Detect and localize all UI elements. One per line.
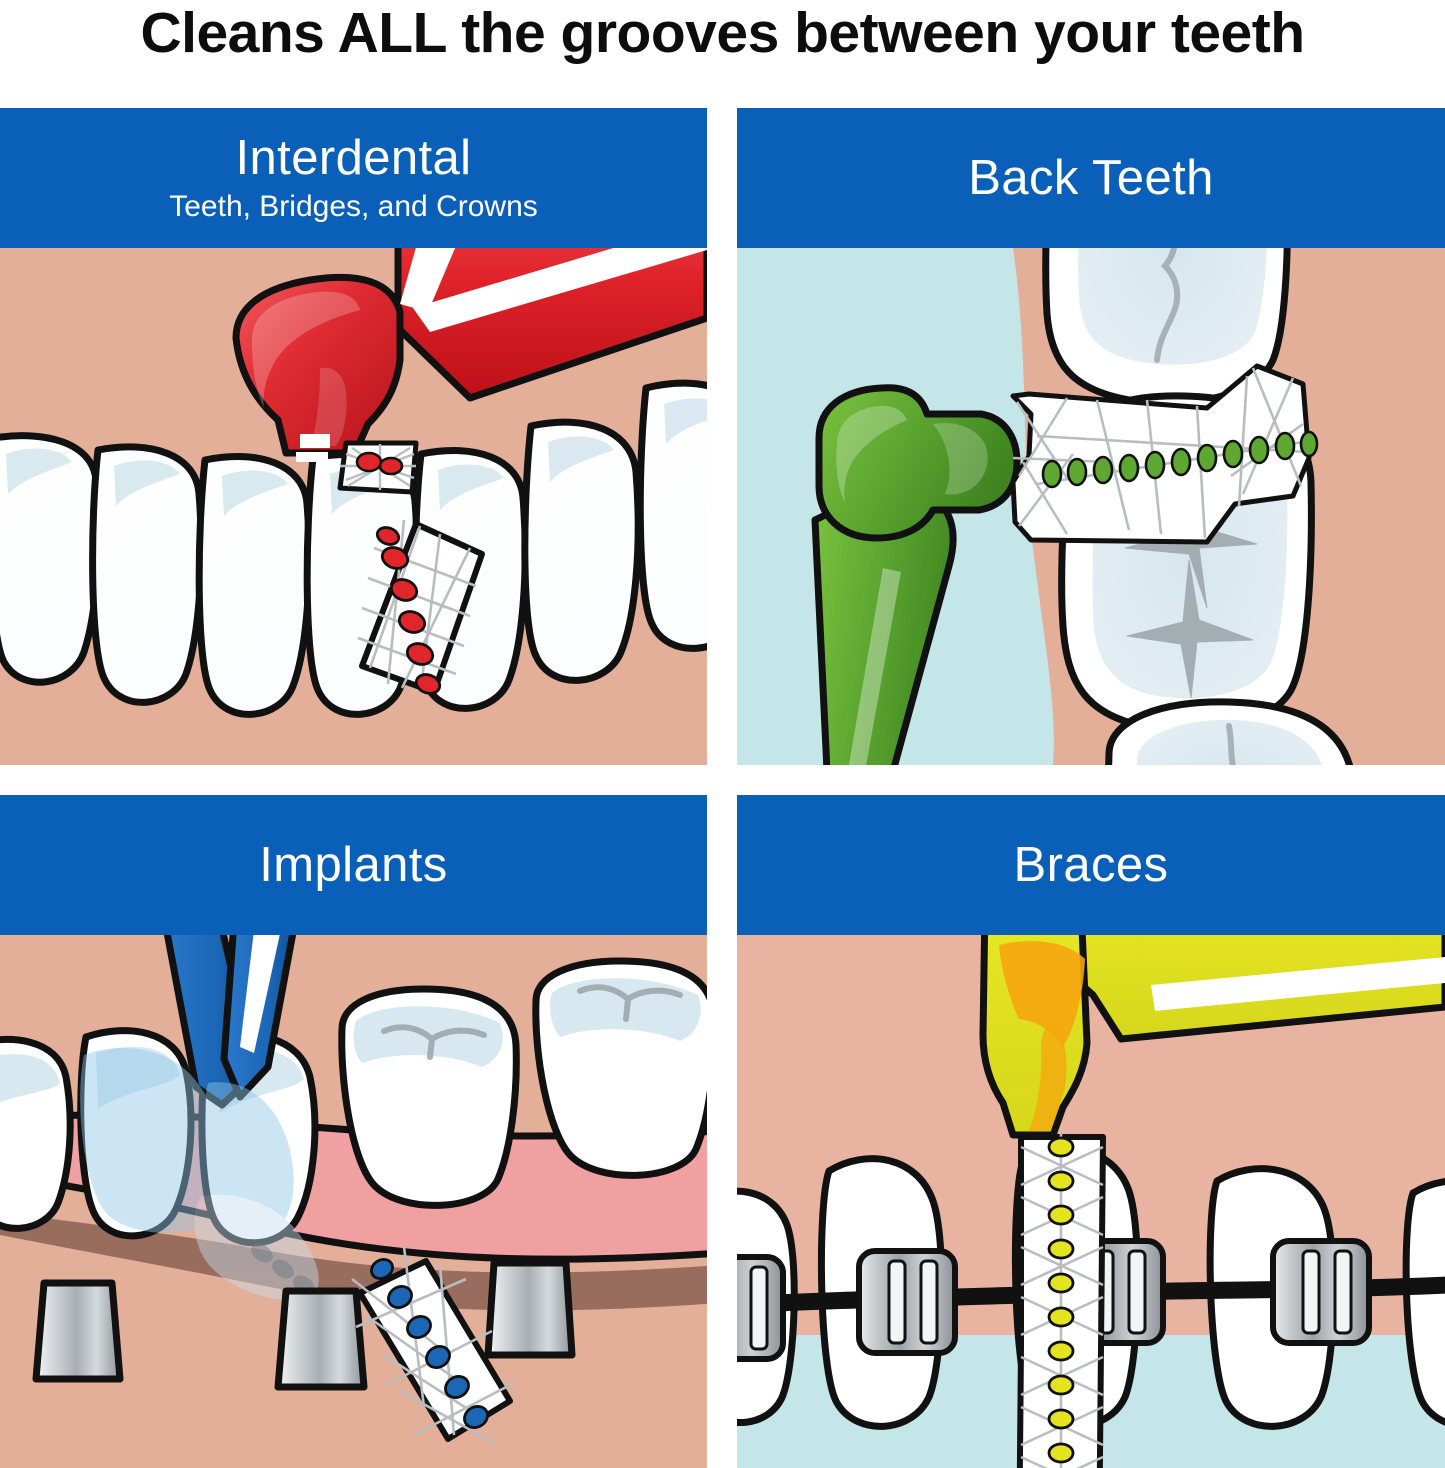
bracket: [859, 1251, 955, 1353]
interdental-illustration: [0, 248, 707, 765]
abutment: [278, 1291, 364, 1387]
page-title: Cleans ALL the grooves between your teet…: [0, 0, 1445, 90]
brush-head-yellow: [1019, 1133, 1103, 1468]
bracket: [1273, 1241, 1369, 1343]
panel-art-implants: [0, 935, 707, 1468]
panel-braces: Braces: [737, 795, 1445, 1468]
panel-header-interdental: Interdental Teeth, Bridges, and Crowns: [0, 108, 707, 248]
panel-header-back-teeth: Back Teeth: [737, 108, 1445, 248]
panel-back-teeth: Back Teeth: [737, 108, 1445, 765]
abutment: [36, 1283, 120, 1379]
implants-illustration: [0, 935, 707, 1468]
bracket: [737, 1257, 783, 1359]
panel-interdental: Interdental Teeth, Bridges, and Crowns: [0, 108, 707, 765]
brush-head-top: [340, 443, 416, 492]
poster-root: Cleans ALL the grooves between your teet…: [0, 0, 1445, 1468]
panel-title-implants: Implants: [259, 837, 447, 893]
panel-art-braces: [737, 935, 1445, 1468]
panel-title-back-teeth: Back Teeth: [968, 150, 1214, 206]
panel-art-interdental: [0, 248, 707, 765]
panel-header-implants: Implants: [0, 795, 707, 935]
panel-title-braces: Braces: [1014, 837, 1169, 893]
panel-grid: Interdental Teeth, Bridges, and Crowns: [0, 108, 1445, 1468]
abutment: [488, 1263, 572, 1355]
braces-illustration: [737, 935, 1445, 1468]
panel-title-interdental: Interdental: [236, 130, 472, 186]
panel-subtitle-interdental: Teeth, Bridges, and Crowns: [169, 188, 538, 226]
panel-implants: Implants: [0, 795, 707, 1468]
back-teeth-illustration: [737, 248, 1445, 765]
panel-header-braces: Braces: [737, 795, 1445, 935]
panel-art-back-teeth: [737, 248, 1445, 765]
